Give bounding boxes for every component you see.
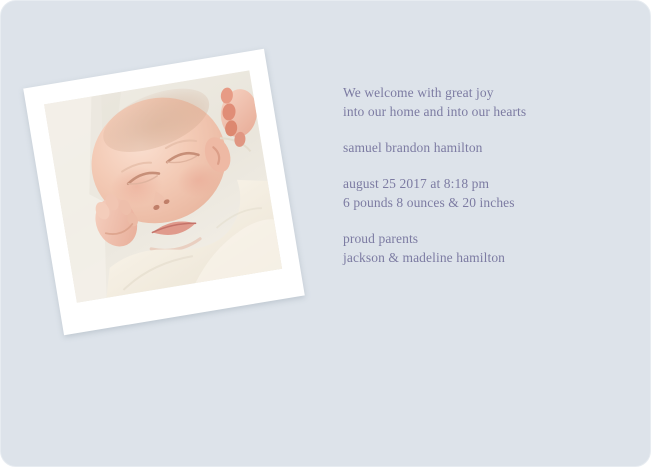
birth-announcement-card: We welcome with great joy into our home … — [0, 0, 651, 467]
baby-name-paragraph: samuel brandon hamilton — [343, 138, 633, 157]
announcement-text: We welcome with great joy into our home … — [343, 83, 633, 267]
birth-date-time: august 25 2017 at 8:18 pm — [343, 174, 633, 193]
welcome-paragraph: We welcome with great joy into our home … — [343, 83, 633, 121]
birth-details-paragraph: august 25 2017 at 8:18 pm 6 pounds 8 oun… — [343, 174, 633, 212]
baby-name: samuel brandon hamilton — [343, 138, 633, 157]
birth-weight-length: 6 pounds 8 ounces & 20 inches — [343, 193, 633, 212]
welcome-line-2: into our home and into our hearts — [343, 102, 633, 121]
welcome-line-1: We welcome with great joy — [343, 83, 633, 102]
parents-names: jackson & madeline hamilton — [343, 248, 633, 267]
photo-polaroid-frame — [23, 49, 305, 335]
parents-paragraph: proud parents jackson & madeline hamilto… — [343, 229, 633, 267]
sleeping-newborn-photo — [44, 70, 282, 302]
baby-photo-illustration — [44, 70, 282, 302]
parents-label: proud parents — [343, 229, 633, 248]
